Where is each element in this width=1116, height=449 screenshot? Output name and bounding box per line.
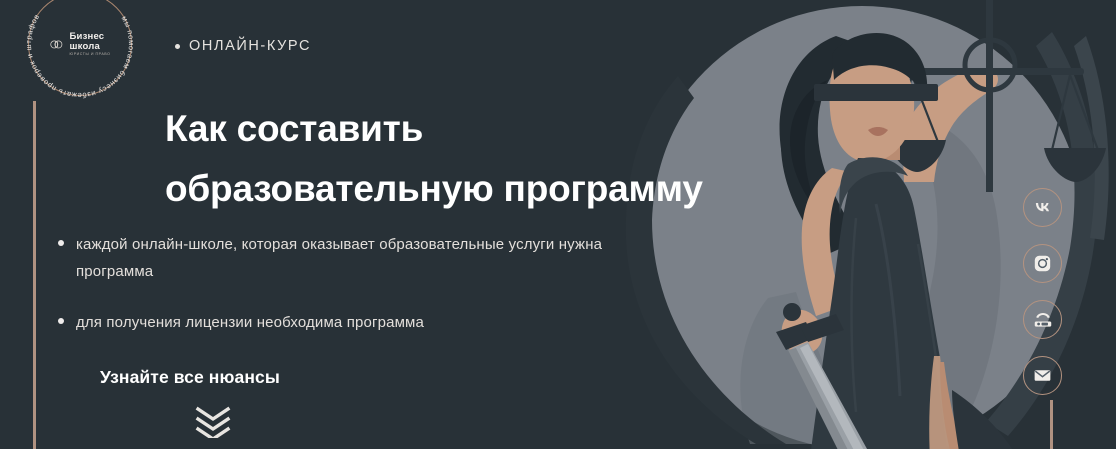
social-link-instagram[interactable]	[1023, 244, 1062, 283]
logo-circular-text-path: мы помогаем бизнесу избежать проверок и …	[24, 12, 136, 100]
social-link-phone[interactable]	[1023, 300, 1062, 339]
vk-icon	[1032, 197, 1053, 218]
bullet-dot-icon	[58, 240, 64, 246]
benefits-list: каждой онлайн-школе, которая оказывает о…	[58, 232, 618, 337]
bullet-dot-icon	[58, 318, 64, 324]
logo-badge[interactable]: мы помогаем бизнесу избежать проверок и …	[18, 0, 142, 106]
list-item-text: каждой онлайн-школе, которая оказывает о…	[76, 232, 618, 285]
eyebrow-label: ОНЛАЙН-КУРС	[175, 38, 311, 54]
instagram-icon	[1032, 253, 1053, 274]
email-icon	[1032, 365, 1053, 386]
headline-line-2: образовательную программу	[165, 159, 805, 219]
scroll-cta[interactable]: Узнайте все нюансы	[100, 367, 280, 443]
eyebrow-text: ОНЛАЙН-КУРС	[189, 38, 311, 54]
page-title: Как составить образовательную программу	[165, 99, 805, 219]
social-link-vk[interactable]	[1023, 188, 1062, 227]
chevron-double-down-icon[interactable]	[194, 404, 232, 438]
logo-core: Бизнес школа ЮРИСТЫ И ПРАВО	[50, 32, 111, 56]
list-item-text: для получения лицензии необходима програ…	[76, 310, 424, 337]
social-link-email[interactable]	[1023, 356, 1062, 395]
svg-text:мы помогаем бизнесу избежать п: мы помогаем бизнесу избежать проверок и …	[24, 12, 136, 100]
eyebrow-bullet-dot	[175, 44, 180, 49]
left-accent-rule	[33, 101, 36, 449]
list-item: каждой онлайн-школе, которая оказывает о…	[58, 232, 618, 285]
logo-line-2: школа	[70, 41, 111, 51]
logo-mark-icon	[50, 38, 65, 51]
headline-line-1: Как составить	[165, 99, 805, 159]
logo-tagline: ЮРИСТЫ И ПРАВО	[70, 52, 111, 56]
scroll-cta-label: Узнайте все нюансы	[100, 367, 280, 388]
social-links-rail	[1023, 188, 1062, 395]
list-item: для получения лицензии необходима програ…	[58, 310, 618, 337]
phone-icon	[1032, 309, 1054, 331]
hero-banner: мы помогаем бизнесу избежать проверок и …	[0, 0, 1116, 449]
